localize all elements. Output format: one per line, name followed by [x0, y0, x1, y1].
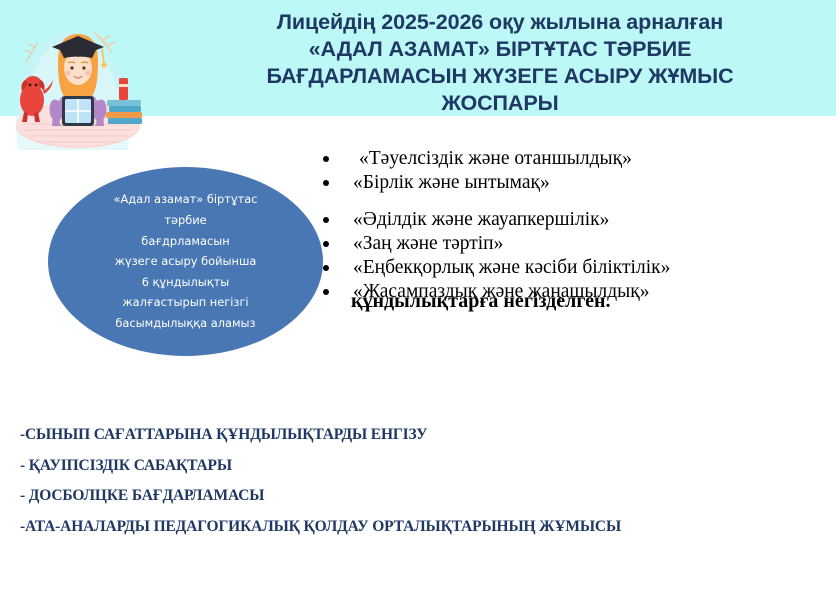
list-item-label: «Бірлік және ынтымақ» [353, 172, 550, 193]
bullet-dot-icon [323, 265, 329, 271]
list-item: «Еңбекқорлық және кәсіби біліктілік» [317, 256, 670, 280]
bullet-dot-icon [323, 289, 329, 295]
list-item-label: «Заң және тәртіп» [353, 233, 503, 254]
oval-callout-text: «Адал азамат» біртұтас тәрбие бағдрламас… [103, 189, 267, 333]
list-item: «Тәуелсіздік және отаншылдық» [317, 147, 632, 171]
bullet-dot-icon [323, 241, 329, 247]
student-with-tablet-illustration [0, 0, 155, 150]
list-item: «Заң және тәртіп» [317, 232, 670, 256]
list-item-label: «Еңбекқорлық және кәсіби біліктілік» [353, 257, 670, 278]
bullet-dot-icon [323, 217, 329, 223]
bottom-list-item: -СЫНЫП САҒАТТАРЫНА ҚҰНДЫЛЫҚТАРДЫ ЕНГІЗУ [20, 420, 826, 451]
list-item: «Әділдік және жауапкершілік» [317, 208, 670, 232]
oval-callout: «Адал азамат» біртұтас тәрбие бағдрламас… [48, 167, 323, 356]
bottom-list-item: -АТА-АНАЛАРДЫ ПЕДАГОГИКАЛЫҚ ҚОЛДАУ ОРТАЛ… [20, 512, 826, 543]
list-item-label: «Тәуелсіздік және отаншылдық» [359, 148, 632, 169]
bullet-dot-icon [323, 180, 329, 186]
values-closing-line: құндылықтарға негізделген. [351, 290, 611, 313]
bottom-list-item: - ДОСБОЛЦКЕ БАҒДАРЛАМАСЫ [20, 481, 826, 512]
list-item: «Бірлік және ынтымақ» [317, 171, 632, 195]
list-item-label: «Әділдік және жауапкершілік» [353, 209, 609, 230]
bottom-activities-list: -СЫНЫП САҒАТТАРЫНА ҚҰНДЫЛЫҚТАРДЫ ЕНГІЗУ … [20, 420, 826, 542]
bullet-dot-icon [323, 156, 329, 162]
page-title: Лицейдің 2025-2026 оқу жылына арналған «… [200, 9, 800, 117]
values-list-group-a: «Тәуелсіздік және отаншылдық» «Бірлік жә… [317, 147, 632, 195]
bottom-list-item: - ҚАУІПСІЗДІК САБАҚТАРЫ [20, 451, 826, 482]
slide-canvas: Лицейдің 2025-2026 оқу жылына арналған «… [0, 0, 836, 595]
